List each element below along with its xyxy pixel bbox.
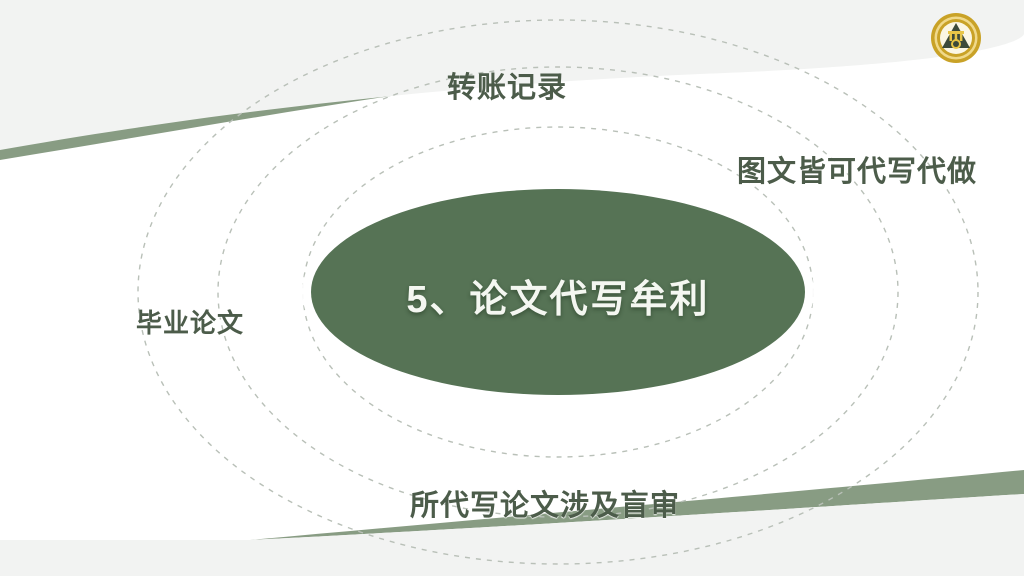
label-left: 毕业论文 (136, 303, 244, 340)
presentation-slide: 转账记录 图文皆可代写代做 毕业论文 所代写论文涉及盲审 5、论文代写牟利 (0, 0, 1024, 576)
institutional-seal-icon (929, 11, 983, 65)
label-bottom: 所代写论文涉及盲审 (410, 482, 680, 524)
label-right: 图文皆可代写代做 (737, 148, 977, 190)
center-title: 5、论文代写牟利 (310, 268, 806, 323)
label-top: 转账记录 (447, 64, 567, 106)
